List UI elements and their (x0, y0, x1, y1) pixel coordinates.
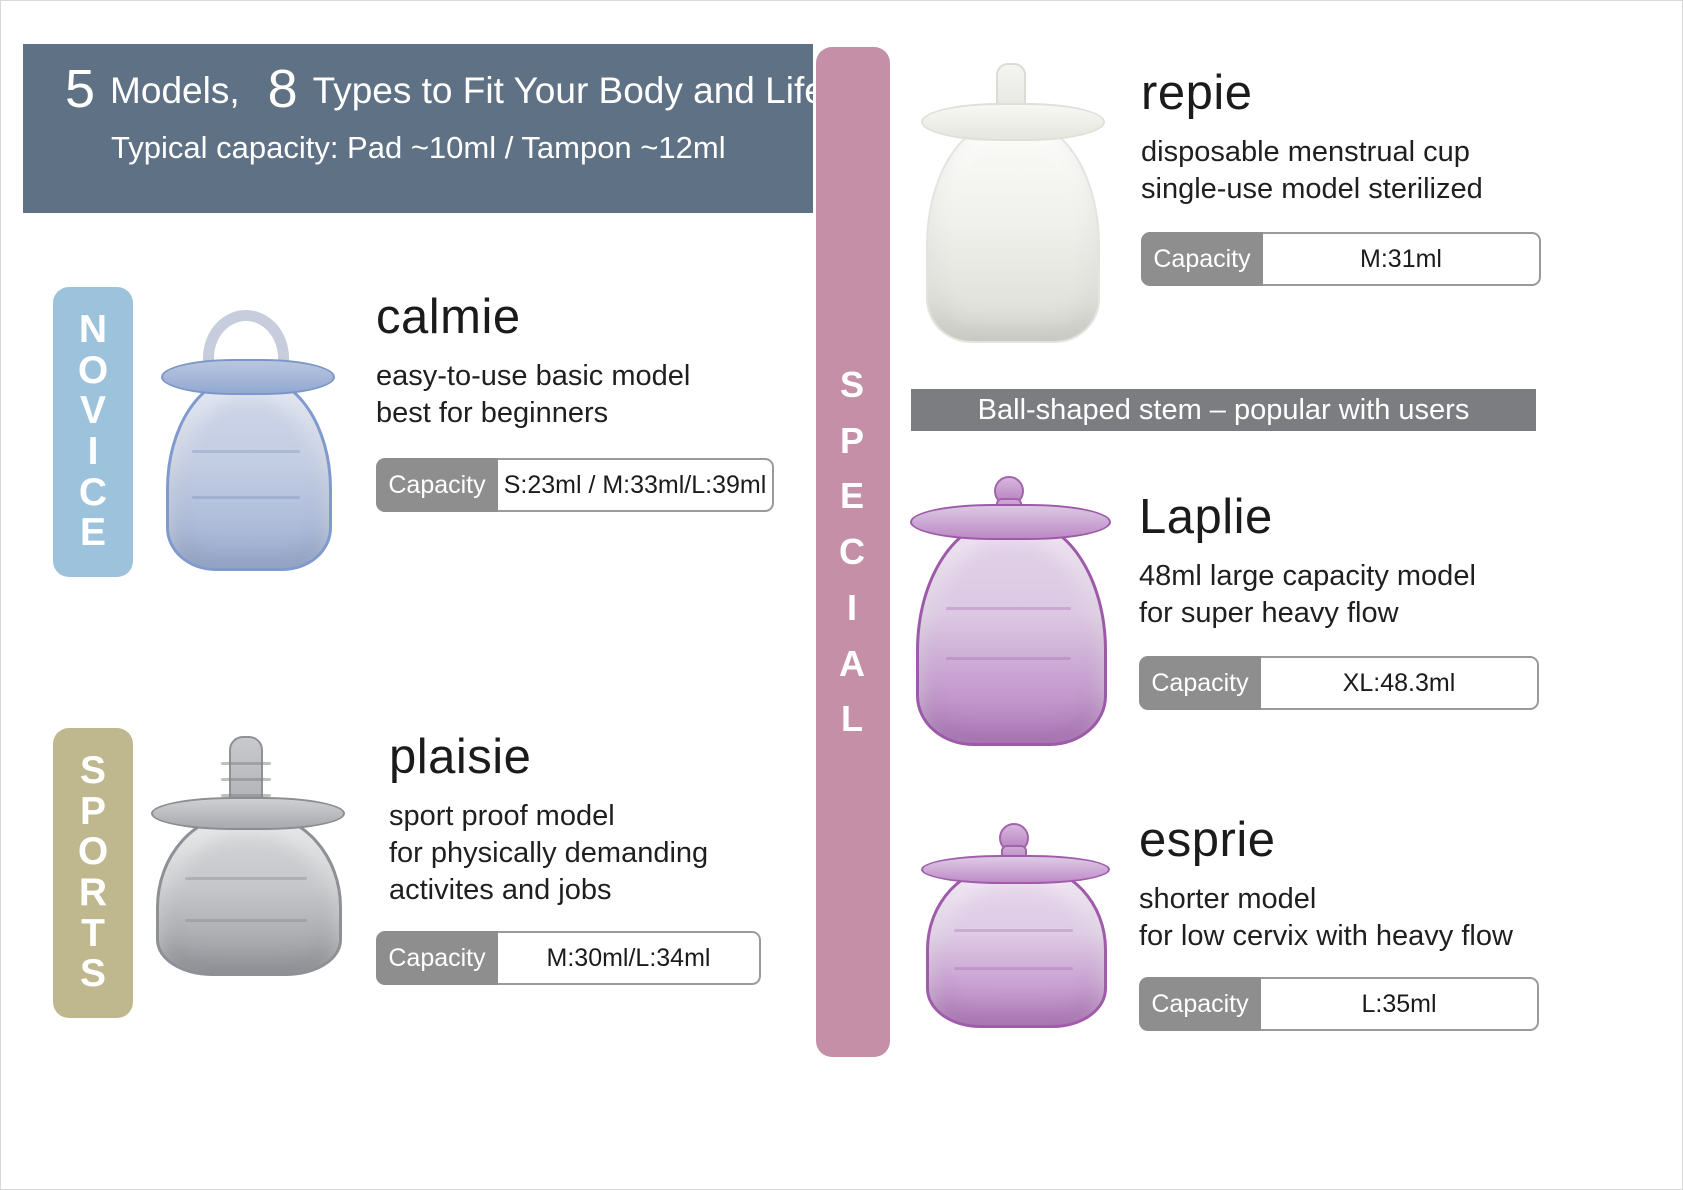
badge-letter: E (80, 513, 106, 554)
capacity-value: XL:48.3ml (1261, 656, 1539, 710)
product-description: shorter model for low cervix with heavy … (1139, 881, 1539, 955)
product-name: plaisie (389, 733, 789, 782)
badge-letter: N (79, 310, 107, 351)
product-image-plaisie (156, 736, 336, 976)
product-image-laplie (916, 476, 1101, 746)
product-description: sport proof model for physically demandi… (389, 798, 789, 909)
category-badge-novice: N O V I C E (53, 287, 133, 577)
cup-body (156, 812, 342, 976)
capacity-row-repie: Capacity M:31ml (1141, 232, 1541, 286)
product-calmie: calmie easy-to-use basic model best for … (376, 293, 776, 512)
product-name: calmie (376, 293, 776, 342)
stem-rib (221, 778, 271, 781)
badge-letter: I (847, 580, 859, 636)
graduation-line (954, 967, 1073, 970)
types-count: 8 (268, 59, 299, 119)
capacity-label: Capacity (376, 931, 498, 985)
cup-rim (161, 359, 335, 395)
graduation-line (185, 877, 307, 880)
capacity-value: S:23ml / M:33ml/L:39ml (498, 458, 774, 512)
graduation-line (954, 929, 1073, 932)
capacity-value: M:31ml (1263, 232, 1541, 286)
product-description: 48ml large capacity model for super heav… (1139, 558, 1539, 632)
capacity-label: Capacity (376, 458, 498, 512)
badge-letter: O (78, 832, 108, 873)
capacity-row-laplie: Capacity XL:48.3ml (1139, 656, 1539, 710)
cup-rim (921, 103, 1105, 141)
cup-rim (910, 504, 1110, 540)
header-banner: 5Models,8Types to Fit Your Body and Life… (23, 44, 813, 213)
product-image-esprie (926, 823, 1101, 1028)
headline-rest: Types to Fit Your Body and Lifestyle (313, 70, 901, 111)
info-banner-text: Ball-shaped stem – popular with users (978, 394, 1470, 427)
badge-letter: C (79, 473, 107, 514)
graduation-line (192, 496, 301, 499)
badge-letter: S (80, 751, 106, 792)
product-description: easy-to-use basic model best for beginne… (376, 358, 776, 432)
capacity-row-plaisie: Capacity M:30ml/L:34ml (376, 931, 761, 985)
cup-body (926, 121, 1100, 343)
capacity-row-esprie: Capacity L:35ml (1139, 977, 1539, 1031)
models-label: Models, (110, 70, 240, 111)
category-badge-sports: S P O R T S (53, 728, 133, 1018)
cup-body (926, 864, 1107, 1028)
capacity-value: L:35ml (1261, 977, 1539, 1031)
infographic-page: 5Models,8Types to Fit Your Body and Life… (0, 0, 1683, 1190)
header-headline: 5Models,8Types to Fit Your Body and Life… (23, 62, 813, 116)
badge-letter: S (80, 954, 106, 995)
product-image-repie (926, 63, 1096, 343)
graduation-line (185, 919, 307, 922)
product-name: Laplie (1139, 493, 1539, 542)
capacity-row-calmie: Capacity S:23ml / M:33ml/L:39ml (376, 458, 774, 512)
capacity-label: Capacity (1141, 232, 1263, 286)
badge-letter: T (81, 914, 105, 955)
badge-letter: E (840, 468, 866, 524)
product-name: esprie (1139, 816, 1539, 865)
badge-letter: I (88, 432, 99, 473)
product-repie: repie disposable menstrual cup single-us… (1141, 69, 1541, 286)
badge-letter: P (840, 413, 866, 469)
badge-letter: L (841, 691, 865, 747)
badge-letter: P (80, 792, 106, 833)
capacity-label: Capacity (1139, 656, 1261, 710)
badge-letter: A (839, 636, 867, 692)
product-name: repie (1141, 69, 1541, 118)
graduation-line (946, 607, 1072, 610)
cup-body (916, 518, 1107, 746)
graduation-line (946, 657, 1072, 660)
category-badge-special: S P E C I A L (816, 47, 890, 1057)
product-plaisie: plaisie sport proof model for physically… (389, 733, 789, 985)
badge-letter: V (80, 391, 106, 432)
badge-letter: C (839, 524, 867, 580)
capacity-label: Capacity (1139, 977, 1261, 1031)
cup-rim (151, 797, 346, 830)
product-description: disposable menstrual cup single-use mode… (1141, 134, 1541, 208)
product-laplie: Laplie 48ml large capacity model for sup… (1139, 493, 1539, 710)
header-subline: Typical capacity: Pad ~10ml / Tampon ~12… (23, 130, 813, 166)
graduation-line (192, 450, 301, 453)
badge-letter: S (840, 357, 866, 413)
stem-rib (221, 762, 271, 765)
info-banner-ball-stem: Ball-shaped stem – popular with users (911, 389, 1536, 431)
product-esprie: esprie shorter model for low cervix with… (1139, 816, 1539, 1031)
capacity-value: M:30ml/L:34ml (498, 931, 761, 985)
models-count: 5 (65, 59, 96, 119)
cup-rim (921, 855, 1111, 884)
product-image-calmie (166, 306, 326, 571)
cup-body (166, 375, 332, 571)
badge-letter: R (79, 873, 107, 914)
badge-letter: O (78, 351, 108, 392)
